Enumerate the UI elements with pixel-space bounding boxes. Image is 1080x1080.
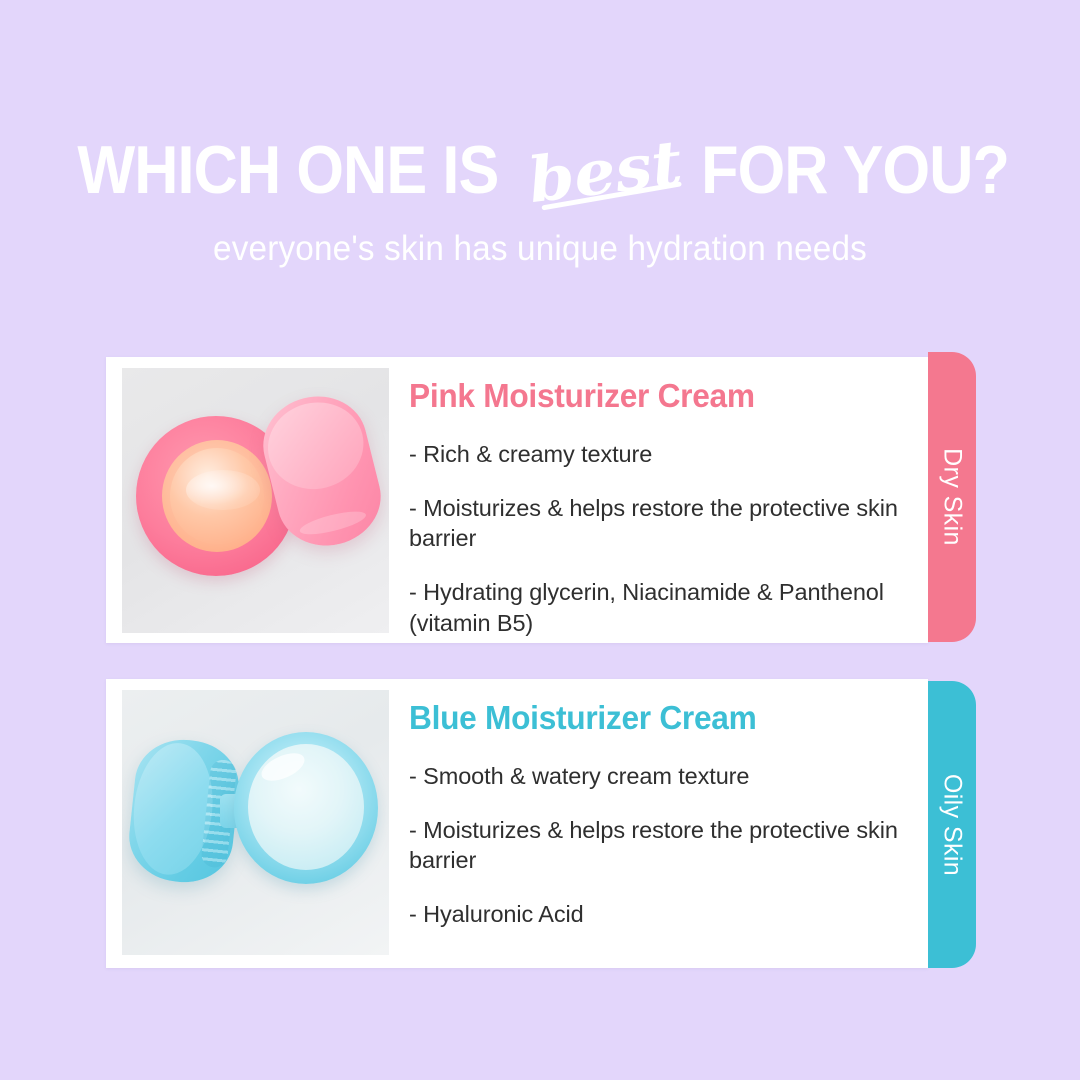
feature-item: - Hyaluronic Acid: [409, 899, 910, 930]
header: WHICH ONE ISbestFOR YOU? everyone's skin…: [0, 0, 1080, 300]
feature-item: - Rich & creamy texture: [409, 439, 910, 470]
blue-jar-base-icon: [234, 732, 378, 884]
feature-item: - Hydrating glycerin, Niacinamide & Pant…: [409, 577, 910, 638]
headline-script-word: best: [525, 132, 685, 212]
skin-type-tab-label: Dry Skin: [938, 448, 967, 546]
feature-item: - Moisturizes & helps restore the protec…: [409, 815, 910, 876]
product-card-blue[interactable]: Blue Moisturizer Cream - Smooth & watery…: [106, 679, 928, 968]
page-subtitle: everyone's skin has unique hydration nee…: [27, 229, 1053, 269]
product-image-pink: [122, 368, 389, 633]
product-title-pink: Pink Moisturizer Cream: [409, 377, 890, 415]
product-card-pink[interactable]: Pink Moisturizer Cream - Rich & creamy t…: [106, 357, 928, 643]
skin-type-tab-label: Oily Skin: [938, 773, 967, 875]
pink-cream-swirl-icon: [186, 470, 260, 510]
product-details-blue: Blue Moisturizer Cream - Smooth & watery…: [389, 679, 928, 930]
pink-cream-icon: [170, 448, 264, 544]
page-headline: WHICH ONE ISbestFOR YOU?: [0, 136, 1080, 204]
headline-text-trail: FOR YOU?: [701, 136, 1009, 204]
feature-item: - Smooth & watery cream texture: [409, 761, 910, 792]
product-image-blue: [122, 690, 389, 955]
product-details-pink: Pink Moisturizer Cream - Rich & creamy t…: [389, 357, 928, 638]
feature-item: - Moisturizes & helps restore the protec…: [409, 493, 910, 554]
skin-type-tab-dry[interactable]: Dry Skin: [928, 352, 976, 642]
headline-text-lead: WHICH ONE IS: [77, 136, 498, 204]
pink-jar-inner-icon: [162, 440, 272, 552]
skin-type-tab-oily[interactable]: Oily Skin: [928, 681, 976, 968]
product-title-blue: Blue Moisturizer Cream: [409, 699, 890, 737]
